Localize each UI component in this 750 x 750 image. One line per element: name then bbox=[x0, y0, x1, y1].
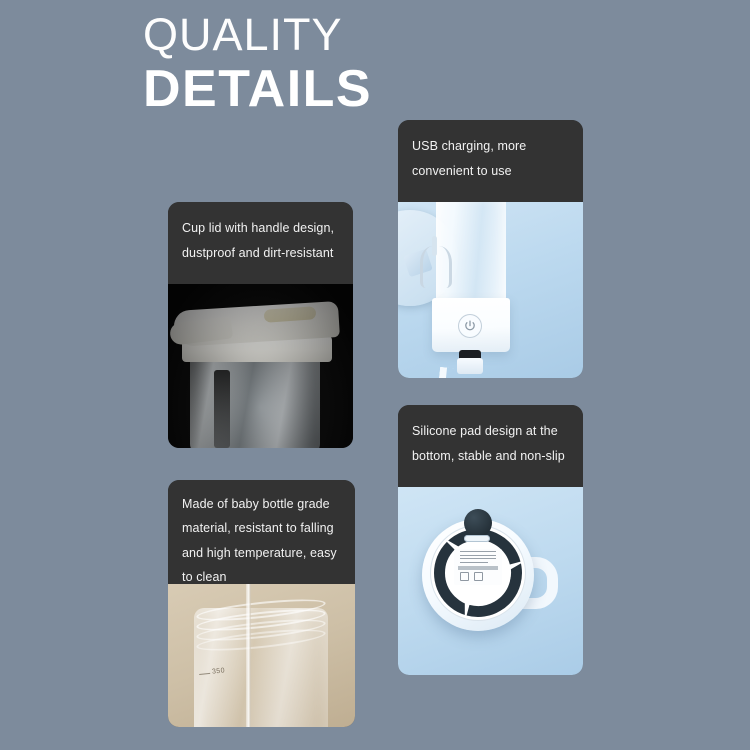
page-title-line-2: DETAILS bbox=[143, 63, 372, 115]
page-title-line-1: QUALITY bbox=[143, 12, 372, 57]
volume-marking-label: 350 bbox=[212, 667, 226, 675]
feature-photo-silicone-base bbox=[398, 487, 583, 675]
cup-thread-rings-shape bbox=[196, 602, 326, 642]
feature-photo-cup-lid bbox=[168, 284, 353, 448]
power-button-icon[interactable] bbox=[458, 314, 482, 338]
recycling-icon bbox=[460, 572, 469, 581]
feature-caption-usb-charging: USB charging, more convenient to use bbox=[398, 120, 583, 202]
spec-label-line bbox=[460, 551, 496, 552]
feature-caption-silicone-base: Silicone pad design at the bottom, stabl… bbox=[398, 405, 583, 487]
spec-label-line bbox=[460, 558, 496, 559]
charging-port-slot-shape bbox=[464, 535, 490, 542]
feature-card-silicone-base[interactable]: Silicone pad design at the bottom, stabl… bbox=[398, 405, 583, 675]
feature-card-cup-lid[interactable]: Cup lid with handle design, dustproof an… bbox=[168, 202, 353, 448]
feature-photo-usb-charging bbox=[398, 202, 583, 378]
page-title: QUALITY DETAILS bbox=[143, 12, 372, 115]
charging-port-cover-shape bbox=[464, 509, 492, 537]
blade-shaft-shape bbox=[246, 584, 251, 727]
spec-label-certification-icons bbox=[454, 570, 502, 581]
feature-card-usb-charging[interactable]: USB charging, more convenient to use bbox=[398, 120, 583, 378]
certification-icon bbox=[474, 572, 483, 581]
photo-vignette bbox=[168, 284, 353, 448]
feature-caption-cup-lid: Cup lid with handle design, dustproof an… bbox=[168, 202, 353, 284]
feature-card-material[interactable]: Made of baby bottle grade material, resi… bbox=[168, 480, 355, 727]
feature-caption-material: Made of baby bottle grade material, resi… bbox=[168, 480, 355, 584]
blender-blade-shape bbox=[420, 246, 452, 288]
spec-label bbox=[454, 549, 502, 585]
spec-label-line bbox=[460, 562, 488, 563]
product-detail-page: QUALITY DETAILS Cup lid with handle desi… bbox=[0, 0, 750, 750]
spec-label-line bbox=[460, 555, 496, 556]
feature-photo-material: 350 bbox=[168, 584, 355, 727]
